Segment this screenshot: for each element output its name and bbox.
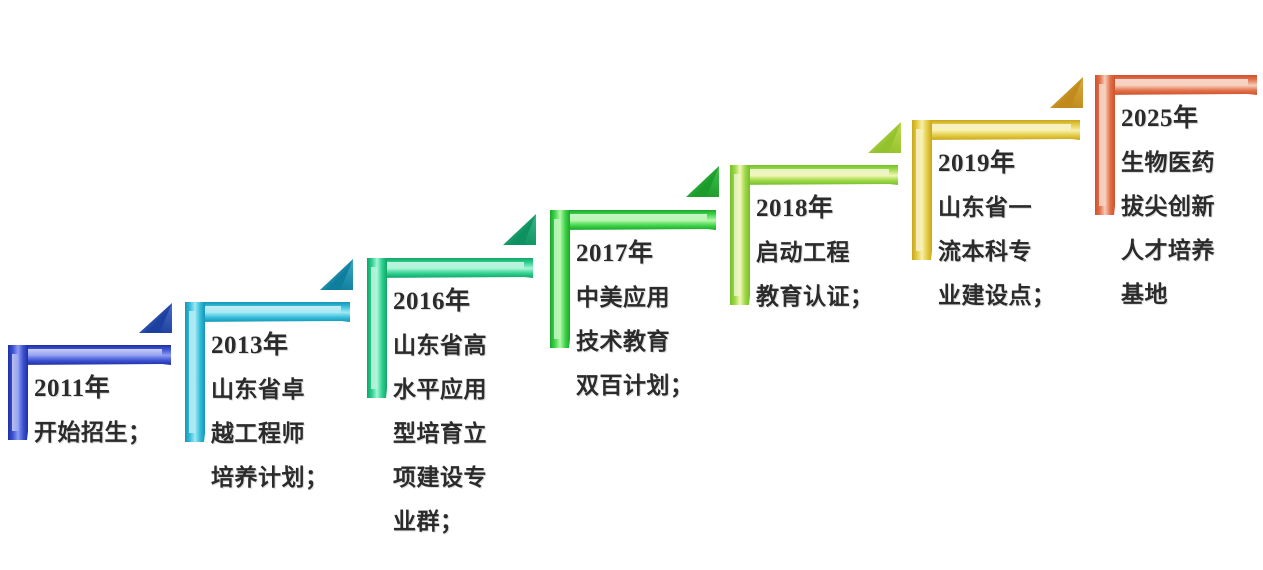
step-year-label: 2011年: [34, 367, 177, 411]
step-text-block: 2011年开始招生；: [34, 367, 177, 455]
step-year-label: 2025年: [1121, 97, 1263, 141]
step-top-bar-highlight: [17, 349, 162, 356]
step-left-bar-highlight: [371, 267, 378, 389]
step-top-bar: [185, 302, 350, 322]
step-left-bar: [730, 165, 750, 305]
step-top-bar: [367, 258, 533, 278]
step-ascend-triangle-icon: [686, 166, 719, 197]
step-text-block: 2017年中美应用 技术教育 双百计划；: [576, 232, 722, 408]
step-year-label: 2018年: [756, 187, 904, 231]
step-left-bar: [550, 210, 570, 348]
step-left-bar-highlight: [554, 219, 561, 339]
step-top-bar: [1095, 75, 1257, 95]
step-left-bar: [1095, 75, 1115, 215]
step-description: 中美应用 技术教育 双百计划；: [576, 276, 722, 408]
step-ascend-triangle-icon: [503, 214, 536, 245]
step-left-bar: [8, 345, 28, 440]
step-year-label: 2019年: [938, 142, 1086, 186]
step-left-bar: [185, 302, 205, 442]
timeline-staircase-diagram: 2011年开始招生；2013年山东省卓 越工程师 培养计划；2016年山东省高 …: [0, 0, 1263, 570]
step-ascend-triangle-icon: [868, 122, 901, 153]
step-top-bar-highlight: [921, 124, 1071, 131]
step-top-bar: [8, 345, 171, 365]
step-description: 启动工程 教育认证；: [756, 231, 904, 319]
step-ascend-triangle-icon: [139, 303, 172, 333]
step-description: 山东省高 水平应用 型培育立 项建设专 业群；: [393, 324, 539, 544]
step-description: 开始招生；: [34, 411, 177, 455]
step-left-bar-highlight: [734, 174, 741, 296]
step-text-block: 2018年启动工程 教育认证；: [756, 187, 904, 319]
step-top-bar-highlight: [376, 262, 524, 269]
step-top-bar-highlight: [1104, 79, 1248, 86]
step-top-bar: [730, 165, 898, 185]
step-top-bar-highlight: [559, 214, 707, 221]
step-text-block: 2016年山东省高 水平应用 型培育立 项建设专 业群；: [393, 280, 539, 544]
step-left-bar-highlight: [189, 311, 196, 433]
step-description: 山东省一 流本科专 业建设点；: [938, 186, 1086, 318]
step-ascend-triangle-icon: [1050, 77, 1083, 108]
step-left-bar-highlight: [1099, 84, 1106, 206]
step-top-bar-highlight: [194, 306, 341, 313]
step-ascend-triangle-icon: [320, 259, 353, 290]
step-text-block: 2013年山东省卓 越工程师 培养计划；: [211, 324, 356, 500]
step-left-bar-highlight: [916, 129, 923, 251]
step-year-label: 2017年: [576, 232, 722, 276]
step-left-bar-highlight: [12, 354, 19, 431]
step-description: 生物医药 拔尖创新 人才培养 基地: [1121, 141, 1263, 317]
step-left-bar: [367, 258, 387, 398]
step-top-bar-highlight: [739, 169, 889, 176]
step-left-bar: [912, 120, 932, 260]
step-year-label: 2013年: [211, 324, 356, 368]
step-text-block: 2019年山东省一 流本科专 业建设点；: [938, 142, 1086, 318]
step-top-bar: [550, 210, 716, 230]
step-text-block: 2025年生物医药 拔尖创新 人才培养 基地: [1121, 97, 1263, 317]
step-year-label: 2016年: [393, 280, 539, 324]
step-description: 山东省卓 越工程师 培养计划；: [211, 368, 356, 500]
step-top-bar: [912, 120, 1080, 140]
